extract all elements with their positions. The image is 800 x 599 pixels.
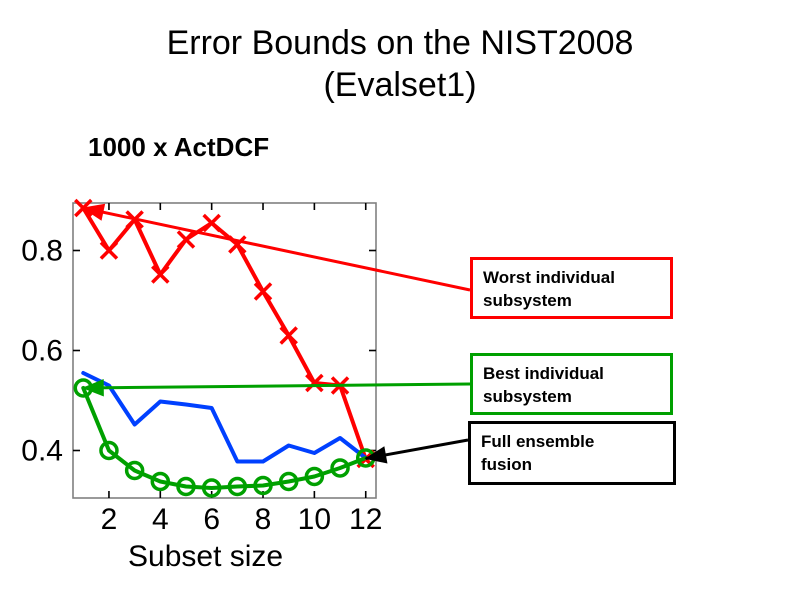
chart-axes — [73, 203, 376, 498]
annotation-best-individual-subsystem: Best individual subsystem — [470, 353, 673, 415]
x-tick-label: 6 — [203, 503, 220, 536]
chart-svg: 246810120.40.60.8 — [0, 0, 800, 599]
y-tick-label: 0.8 — [21, 235, 63, 268]
leader-line-best — [83, 384, 470, 388]
chart-series-group — [75, 200, 373, 496]
x-tick-label: 12 — [349, 503, 382, 536]
x-tick-label: 10 — [298, 503, 331, 536]
chart-plot-area: 246810120.40.60.8 — [0, 0, 800, 599]
y-tick-label: 0.6 — [21, 335, 63, 368]
slide-canvas: Error Bounds on the NIST2008 (Evalset1) … — [0, 0, 800, 599]
x-tick-label: 8 — [255, 503, 272, 536]
plot-frame — [73, 203, 376, 498]
annotation-full-ensemble-fusion: Full ensemble fusion — [468, 421, 676, 485]
series-line-x — [83, 208, 365, 459]
leader-line-worst — [83, 208, 470, 290]
annotation-worst-individual-subsystem: Worst individual subsystem — [470, 257, 673, 319]
x-axis-label: Subset size — [128, 540, 283, 574]
x-tick-label: 4 — [152, 503, 169, 536]
chart-leader-lines — [83, 204, 470, 462]
y-tick-label: 0.4 — [21, 435, 63, 468]
x-tick-label: 2 — [101, 503, 118, 536]
